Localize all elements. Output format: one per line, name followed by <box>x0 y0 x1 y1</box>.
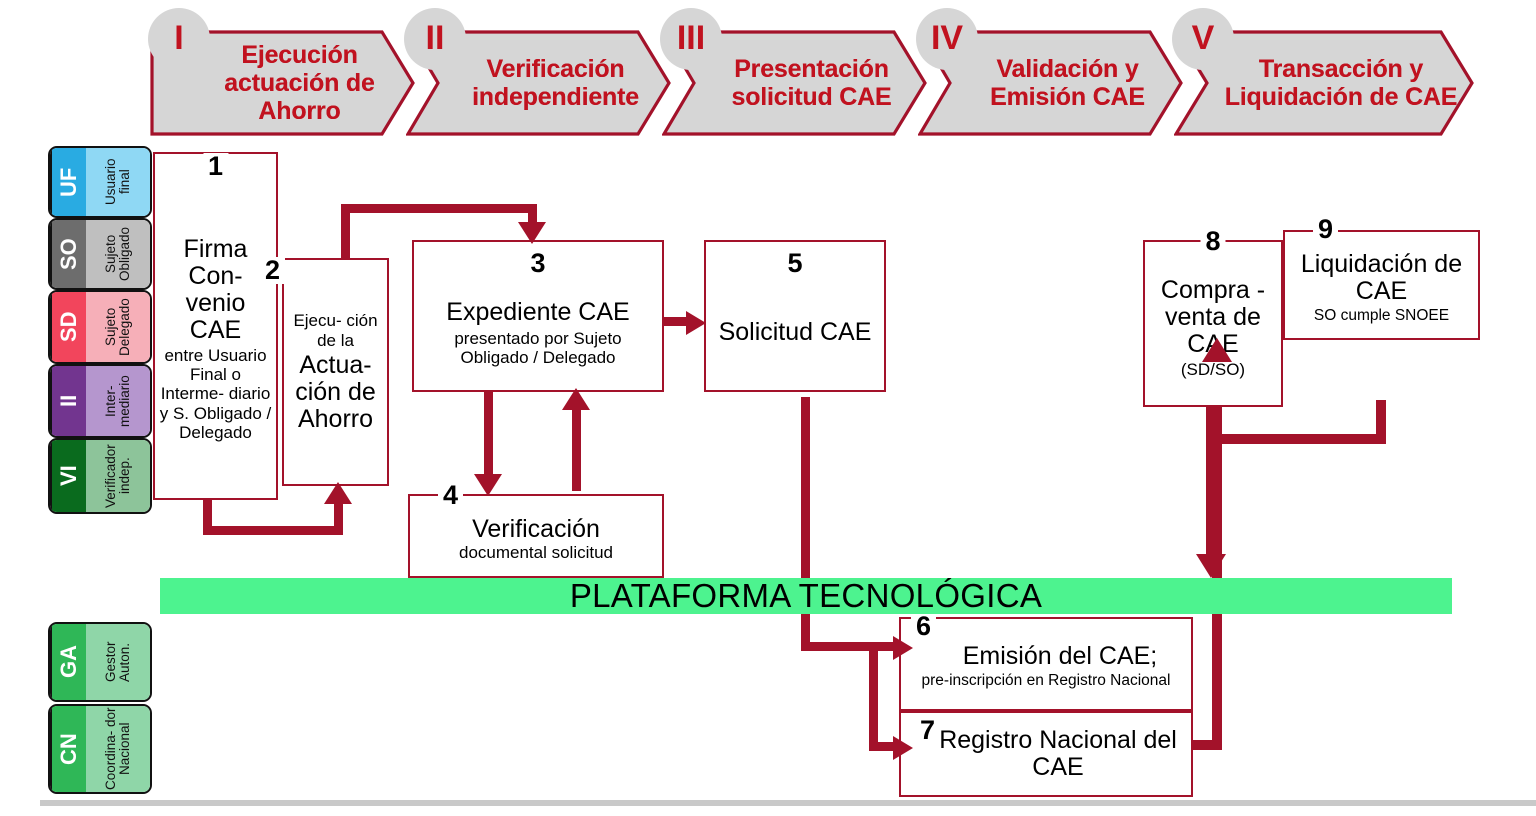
lane-desc-uf: Usuario final <box>86 148 150 216</box>
step-title-3: Expediente CAE <box>446 299 629 326</box>
step-subtitle-6: pre-inscripción en Registro Nacional <box>922 672 1171 689</box>
lane-desc-ga: Gestor Auton. <box>86 624 150 700</box>
lane-desc-so: Sujeto Obligado <box>86 220 150 288</box>
phase-banner-4: Validación y Emisión CAE IV <box>918 28 1183 138</box>
connector-2-to-3-h <box>341 204 537 213</box>
step-number-7: 7 <box>915 717 940 744</box>
lane-chip-cn: CN Coordina- dor Nacional <box>48 704 152 794</box>
lane-code-cn: CN <box>50 706 86 792</box>
step-title-2: Actua- ción de Ahorro <box>286 352 385 433</box>
arrowhead-into-box7 <box>893 736 913 760</box>
step-box-7[interactable]: 7 Registro Nacional del CAE <box>899 711 1193 797</box>
lane-chip-ga: GA Gestor Auton. <box>48 622 152 702</box>
step-number-3: 3 <box>525 250 550 277</box>
step-box-4[interactable]: 4 Verificación documental solicitud <box>408 494 664 578</box>
step-number-2: 2 <box>260 257 285 284</box>
lane-desc-ii: Inter- mediario <box>86 366 150 436</box>
step-subtitle-4: documental solicitud <box>459 543 613 562</box>
arrowhead-into-box9 <box>1202 338 1232 362</box>
step-subtitle-9: SO cumple SNOEE <box>1314 307 1449 324</box>
arrowhead-into-box6 <box>893 636 913 660</box>
phase-numeral-1: I <box>148 8 210 70</box>
lane-code-vi: VI <box>50 440 86 512</box>
lane-chip-vi: VI Verificador indep. <box>48 438 152 514</box>
phase-numeral-3: III <box>660 8 722 70</box>
bottom-baseline-rule <box>40 800 1536 806</box>
step-number-1: 1 <box>203 153 228 180</box>
lane-chip-sd: SD Sujeto Delegado <box>48 290 152 364</box>
phase-numeral-2: II <box>404 8 466 70</box>
phase-banner-2: Verificación independiente II <box>406 28 671 138</box>
step-title-6: Emisión del CAE; <box>935 643 1158 670</box>
phase-numeral-5: V <box>1172 8 1234 70</box>
step-title-7: Registro Nacional del CAE <box>907 727 1185 781</box>
step-box-9[interactable]: 9 Liquidación de CAE SO cumple SNOEE <box>1283 230 1480 340</box>
connector-6-branch-v <box>869 642 878 751</box>
step-title-1: Firma Con- venio CAE <box>159 236 272 344</box>
phase-banner-3: Presentación solicitud CAE III <box>662 28 927 138</box>
connector-1-to-2-h <box>203 526 343 535</box>
lane-desc-vi: Verificador indep. <box>86 440 150 512</box>
arrowhead-into-box2 <box>324 482 352 504</box>
lane-code-uf: UF <box>50 148 86 216</box>
step-number-4: 4 <box>438 482 463 509</box>
step-box-2[interactable]: 2 Ejecu- ción de la Actua- ción de Ahorr… <box>282 258 389 486</box>
platform-label: PLATAFORMA TECNOLÓGICA <box>570 577 1042 615</box>
flow-diagram-canvas: Ejecución actuación de Ahorro I Verifica… <box>0 0 1536 816</box>
step-title-9: Liquidación de CAE <box>1289 251 1474 305</box>
phase-banner-1: Ejecución actuación de Ahorro I <box>150 28 415 138</box>
connector-9-to-8-h <box>1206 434 1386 444</box>
step-box-3[interactable]: 3 Expediente CAE presentado por Sujeto O… <box>412 240 664 392</box>
step-subtitle-2: Ejecu- ción de la <box>286 311 385 349</box>
connector-3-to-4-v <box>484 391 493 479</box>
connector-9-down-v <box>1376 400 1386 444</box>
step-subtitle-8: (SD/SO) <box>1181 360 1245 379</box>
arrowhead-into-platform <box>1196 554 1226 578</box>
step-box-5[interactable]: 5 Solicitud CAE <box>704 240 886 392</box>
platform-tecnologica-bar: PLATAFORMA TECNOLÓGICA <box>160 578 1452 614</box>
step-subtitle-3: presentado por Sujeto Obligado / Delegad… <box>418 329 658 367</box>
lane-chip-uf: UF Usuario final <box>48 146 152 218</box>
lane-desc-cn: Coordina- dor Nacional <box>86 706 150 792</box>
arrowhead-into-box3 <box>518 222 546 244</box>
step-title-4: Verificación <box>472 516 600 543</box>
lane-chip-so: SO Sujeto Obligado <box>48 218 152 290</box>
arrowhead-into-box3-from-4 <box>562 388 590 410</box>
step-title-5: Solicitud CAE <box>719 319 872 346</box>
step-box-8[interactable]: 8 Compra -venta de CAE (SD/SO) <box>1143 240 1283 407</box>
connector-4-to-3-v <box>572 407 581 491</box>
step-subtitle-1: entre Usuario Final o Interme- diario y … <box>159 346 272 441</box>
lane-code-so: SO <box>50 220 86 288</box>
lane-code-ii: II <box>50 366 86 436</box>
phase-numeral-4: IV <box>916 8 978 70</box>
connector-1-to-2-v2 <box>334 500 343 535</box>
arrowhead-into-box5 <box>686 311 706 335</box>
phase-banner-5: Transacción y Liquidación de CAE V <box>1174 28 1474 138</box>
arrowhead-into-box4 <box>474 474 502 496</box>
step-number-6: 6 <box>911 613 936 640</box>
lane-desc-sd: Sujeto Delegado <box>86 292 150 362</box>
lane-code-ga: GA <box>50 624 86 700</box>
lane-code-sd: SD <box>50 292 86 362</box>
step-number-9: 9 <box>1313 216 1338 243</box>
step-number-8: 8 <box>1200 228 1225 255</box>
step-box-1[interactable]: 1 Firma Con- venio CAE entre Usuario Fin… <box>153 152 278 500</box>
lane-chip-ii: II Inter- mediario <box>48 364 152 438</box>
connector-5-to-6-h <box>801 642 899 651</box>
step-box-6[interactable]: 6 Emisión del CAE; pre-inscripción en Re… <box>899 617 1193 711</box>
step-number-5: 5 <box>782 250 807 277</box>
